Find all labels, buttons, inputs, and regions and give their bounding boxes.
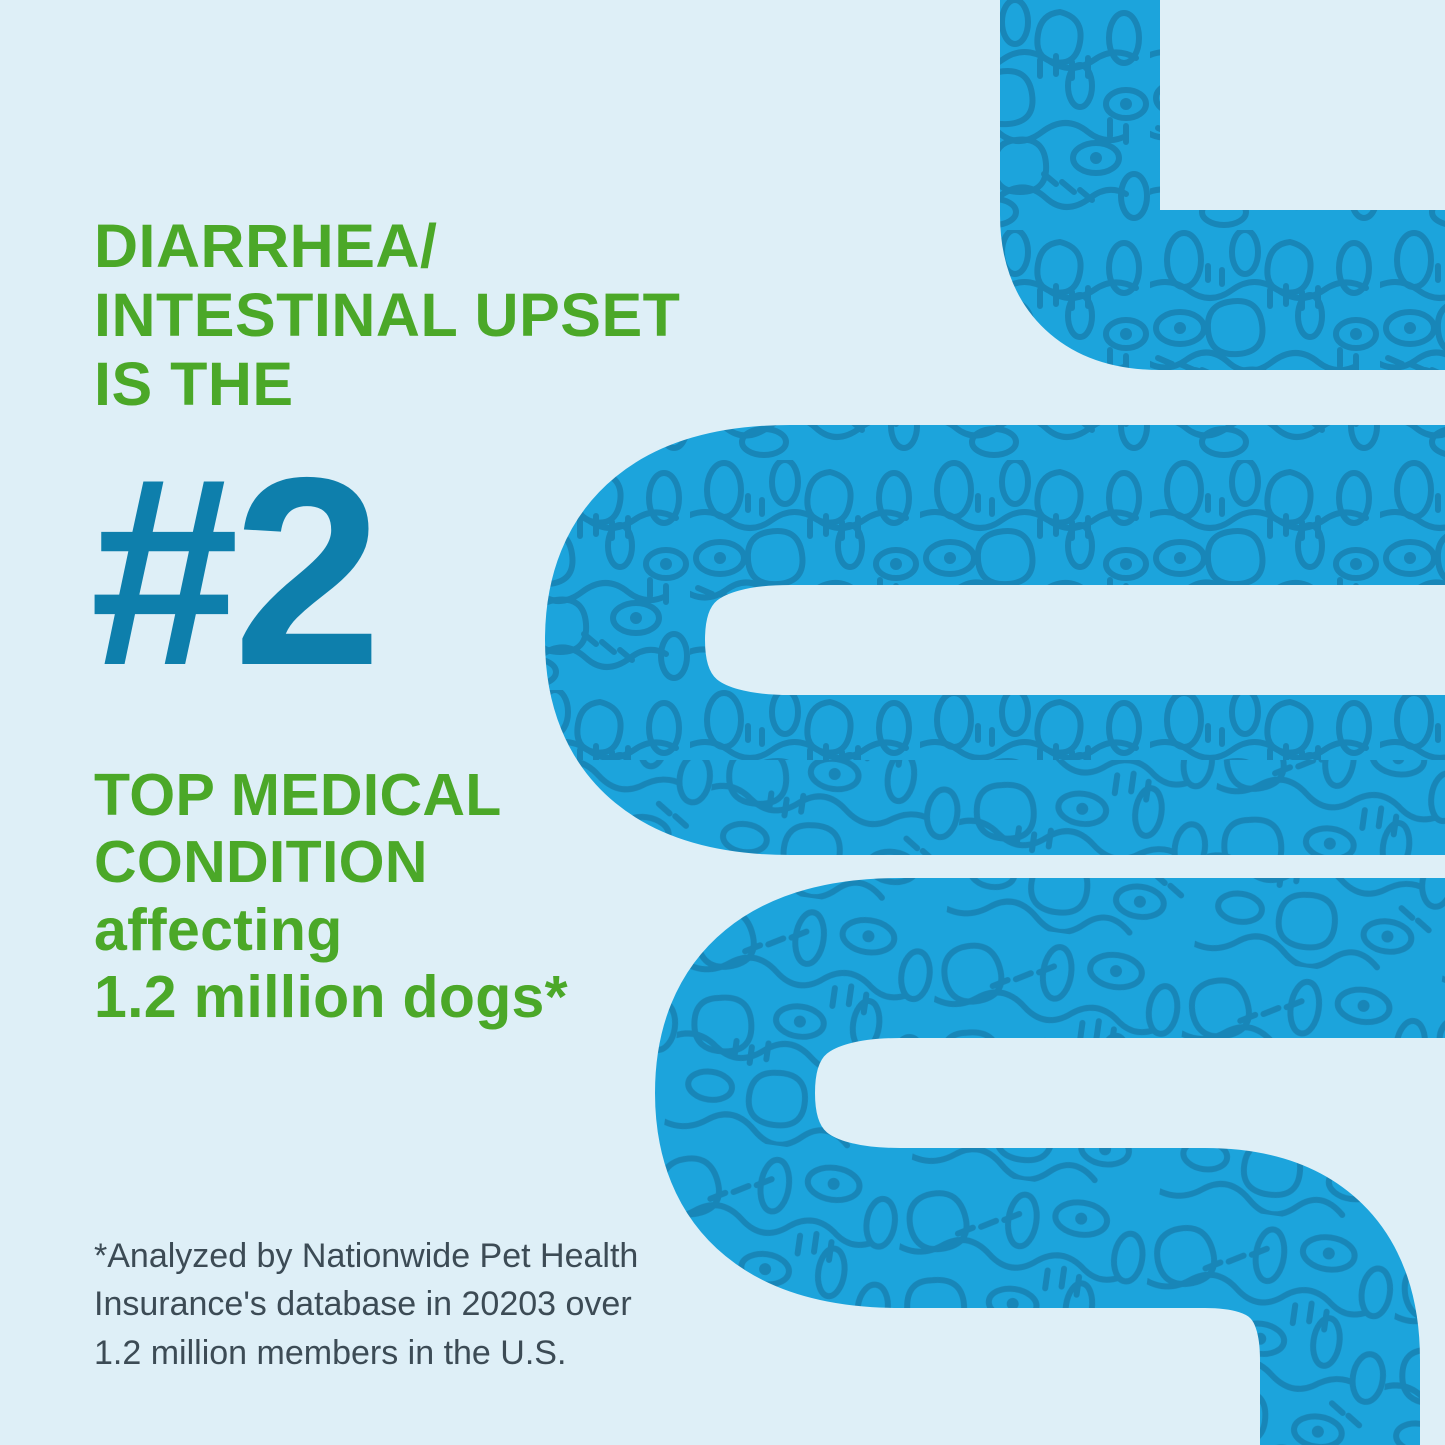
subheadline-line-1: TOP MEDICAL xyxy=(94,762,754,829)
headline-line-2: INTESTINAL UPSET xyxy=(94,281,794,350)
footnote-line-2: Insurance's database in 20203 over xyxy=(94,1280,794,1328)
subheadline: TOP MEDICAL CONDITION affecting 1.2 mill… xyxy=(94,762,754,1031)
footnote-line-1: *Analyzed by Nationwide Pet Health xyxy=(94,1232,794,1280)
headline-line-1: DIARRHEA/ xyxy=(94,212,794,281)
footnote-line-3: 1.2 million members in the U.S. xyxy=(94,1329,794,1377)
subheadline-line-4: 1.2 million dogs* xyxy=(94,964,754,1031)
headline: DIARRHEA/ INTESTINAL UPSET IS THE xyxy=(94,212,794,419)
infographic-poster: DIARRHEA/ INTESTINAL UPSET IS THE #2 TOP… xyxy=(0,0,1445,1445)
rank-number: #2 xyxy=(90,437,376,705)
subheadline-line-3: affecting xyxy=(94,897,754,964)
subheadline-line-2: CONDITION xyxy=(94,829,754,896)
text-layer: DIARRHEA/ INTESTINAL UPSET IS THE #2 TOP… xyxy=(0,0,1445,1445)
footnote: *Analyzed by Nationwide Pet Health Insur… xyxy=(94,1232,794,1377)
headline-line-3: IS THE xyxy=(94,350,794,419)
